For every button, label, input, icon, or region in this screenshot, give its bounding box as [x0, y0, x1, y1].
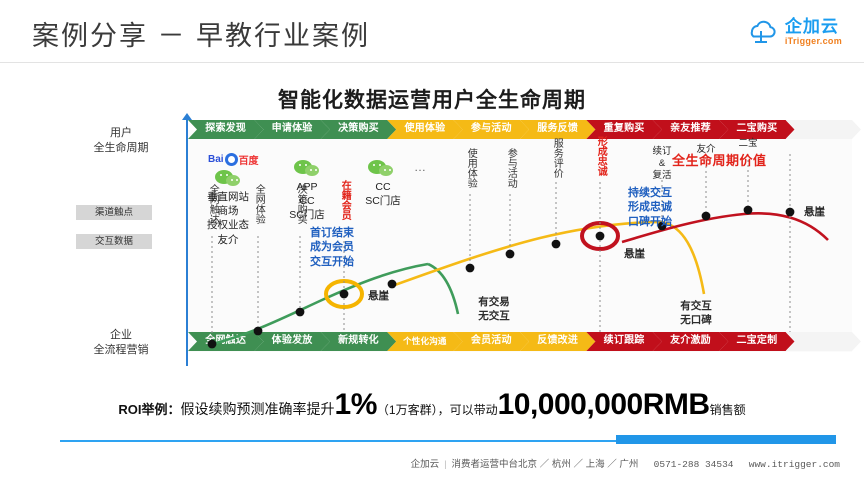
marketing-stage-4[interactable]: 个性化沟通 [387, 332, 462, 351]
marketing-stage-label: 续订跟踪 [604, 336, 645, 346]
note-transaction-no-interaction: 有交易 无交互 [464, 296, 524, 323]
footer: 企加云|消费者运营中台北京 ／ 杭州 ／ 上海 ／ 广州 0571-288 34… [411, 456, 840, 470]
roi-text-2: （1万客群），可以带动 [377, 403, 498, 417]
row-label-marketing-l1: 企业 [66, 328, 176, 343]
marketing-stage-8[interactable]: 友介激励 [653, 332, 728, 351]
brand-logo: 企加云 iTrigger.com [743, 15, 842, 49]
row-label-lifecycle-l1: 用户 [66, 126, 176, 141]
marketing-stage-1[interactable]: 全网触达 [188, 332, 263, 351]
marketing-stage-label: 新规转化 [338, 336, 379, 346]
row-label-lifecycle: 用户 全生命周期 [66, 126, 176, 156]
badge-interaction-data: 交互数据 [76, 234, 152, 249]
cloud-icon [743, 17, 779, 47]
marketing-stage-10[interactable] [786, 332, 861, 351]
footer-phone: 0571-288 34534 [654, 459, 734, 470]
callout-line: 持续交互 [628, 186, 672, 200]
lifecycle-chart: 用户 全生命周期 企业 全流程营销 渠道触点 交互数据 探索发现申请体验决策购买… [62, 118, 852, 378]
lifecycle-stage-band: 探索发现申请体验决策购买使用体验参与活动服务反馈重复购买亲友推荐二宝购买 [188, 120, 852, 139]
note-line: 有交互 [666, 300, 726, 314]
roi-text-1: 假设续购预测准确率提升 [181, 401, 335, 417]
lifecycle-stage-8[interactable]: 亲友推荐 [653, 120, 728, 139]
callout-member-start: 首订结束 成为会员 交互开始 [310, 226, 354, 269]
row-label-lifecycle-l2: 全生命周期 [66, 141, 176, 156]
stem-label: 在籍会员 [339, 180, 350, 220]
footer-site: www.itrigger.com [749, 459, 840, 470]
cliff-label: 悬崖 [368, 288, 389, 303]
stem-label: 形成忠诚 [595, 136, 606, 176]
marketing-stage-7[interactable]: 续订跟踪 [586, 332, 661, 351]
footer-gap [643, 459, 648, 470]
lifecycle-stage-label: 申请体验 [272, 124, 313, 134]
lifecycle-stage-3[interactable]: 决策购买 [321, 120, 396, 139]
note-line: 无口碑 [666, 314, 726, 328]
marketing-stage-label: 二宝定制 [736, 336, 777, 346]
marketing-stage-label: 友介激励 [670, 336, 711, 346]
marketing-stage-9[interactable]: 二宝定制 [719, 332, 794, 351]
stem-label: 参与活动 [505, 148, 516, 188]
lifetime-value-label: 全生命周期价值 [672, 150, 767, 169]
baidu-brand-left: Bai [208, 154, 224, 165]
marketing-stage-6[interactable]: 反馈改进 [520, 332, 595, 351]
marketing-stage-label: 个性化沟通 [403, 337, 447, 346]
callout-line: 首订结束 [310, 226, 354, 240]
marketing-stage-label: 反馈改进 [537, 336, 578, 346]
lifecycle-stage-9[interactable]: 二宝购买 [719, 120, 794, 139]
lifecycle-stage-label: 二宝购买 [736, 124, 777, 134]
lifecycle-stage-6[interactable]: 服务反馈 [520, 120, 595, 139]
stem-label: 决策购买 [295, 184, 306, 224]
page-title: 案例分享 － 早教行业案例 [32, 14, 370, 53]
stem-label: 服务评价 [551, 138, 562, 178]
touchpoint-line: CC [338, 180, 428, 194]
slide-header: 案例分享 － 早教行业案例 企加云 iTrigger.com [0, 0, 864, 62]
row-label-marketing-l2: 全流程营销 [66, 343, 176, 358]
lifecycle-stage-label: 重复购买 [604, 124, 645, 134]
footer-gap [739, 459, 744, 470]
roi-big-1: 1% [335, 388, 377, 421]
callout-line: 成为会员 [310, 240, 354, 254]
row-label-marketing: 企业 全流程营销 [66, 328, 176, 358]
stem-label: 全网触达 [207, 184, 218, 224]
wechat-icon [368, 160, 394, 179]
lifecycle-stage-label: 服务反馈 [537, 124, 578, 134]
y-axis-arrow-icon [182, 113, 192, 120]
stem-label-second-child: 二宝 [728, 138, 768, 151]
cliff-label: 悬崖 [624, 246, 645, 261]
footer-rule-thick [616, 435, 836, 444]
touchpoint-line: 友介 [178, 233, 278, 247]
note-line: 无交互 [464, 310, 524, 324]
chart-title: 智能化数据运营用户全生命周期 [0, 84, 864, 114]
header-divider [0, 62, 864, 63]
footer-separator: | [444, 459, 446, 470]
wechat-icon [215, 170, 241, 189]
lifecycle-stage-label: 决策购买 [338, 124, 379, 134]
marketing-stage-label: 会员活动 [471, 336, 512, 346]
lifecycle-stage-1[interactable]: 探索发现 [188, 120, 263, 139]
roi-text-3: 销售额 [710, 403, 746, 417]
lifecycle-stage-2[interactable]: 申请体验 [254, 120, 329, 139]
lifecycle-stage-label: 亲友推荐 [670, 124, 711, 134]
footer-desc: 消费者运营中台北京 ／ 杭州 ／ 上海 ／ 广州 [452, 459, 639, 470]
lifecycle-stage-4[interactable]: 使用体验 [387, 120, 462, 139]
footer-rule-thin [60, 440, 616, 442]
lifecycle-stage-label: 参与活动 [471, 124, 512, 134]
callout-line: 交互开始 [310, 255, 354, 269]
badge-channel-touchpoint: 渠道触点 [76, 205, 152, 220]
lifecycle-stage-10[interactable] [786, 120, 861, 139]
roi-strip: ROI举例：假设续购预测准确率提升1%（1万客群），可以带动10,000,000… [0, 388, 864, 422]
baidu-paw-icon [225, 153, 238, 166]
lifecycle-stage-5[interactable]: 参与活动 [454, 120, 529, 139]
marketing-stage-3[interactable]: 新规转化 [321, 332, 396, 351]
note-interaction-no-reputation: 有交互 无口碑 [666, 300, 726, 327]
marketing-stage-band: 全网触达体验发放新规转化个性化沟通会员活动反馈改进续订跟踪友介激励二宝定制 [188, 332, 852, 351]
callout-line: 形成忠诚 [628, 200, 672, 214]
marketing-stage-2[interactable]: 体验发放 [254, 332, 329, 351]
cliff-label: 悬崖 [804, 204, 825, 219]
baidu-brand-right: 百度 [239, 152, 259, 167]
callout-loyalty: 持续交互 形成忠诚 口碑开始 [628, 186, 672, 229]
touchpoint-line: SC门店 [338, 194, 428, 208]
marketing-stage-label: 体验发放 [272, 336, 313, 346]
roi-big-2: 10,000,000RMB [498, 388, 710, 421]
wechat-icon [294, 160, 320, 179]
touchpoint-text-cc: CC SC门店 [338, 180, 428, 208]
stem-label: 全网体验 [253, 184, 264, 224]
marketing-stage-5[interactable]: 会员活动 [454, 332, 529, 351]
footer-brand: 企加云 [411, 459, 440, 470]
slide-root: 案例分享 － 早教行业案例 企加云 iTrigger.com 智能化数据运营用户… [0, 0, 864, 485]
logo-brand-cn: 企加云 [785, 18, 842, 35]
stem-label: 使用体验 [465, 148, 476, 188]
note-line: 有交易 [464, 296, 524, 310]
logo-brand-en: iTrigger.com [785, 37, 842, 46]
ellipsis-label: … [414, 160, 426, 174]
marketing-stage-label: 全网触达 [205, 336, 246, 346]
stem-label-line: 复活 [642, 170, 682, 182]
roi-label: ROI举例： [118, 402, 180, 417]
lifecycle-stage-label: 使用体验 [404, 124, 445, 134]
baidu-logo: Bai 百度 [208, 152, 259, 167]
lifecycle-stage-label: 探索发现 [205, 124, 246, 134]
callout-line: 口碑开始 [628, 215, 672, 229]
